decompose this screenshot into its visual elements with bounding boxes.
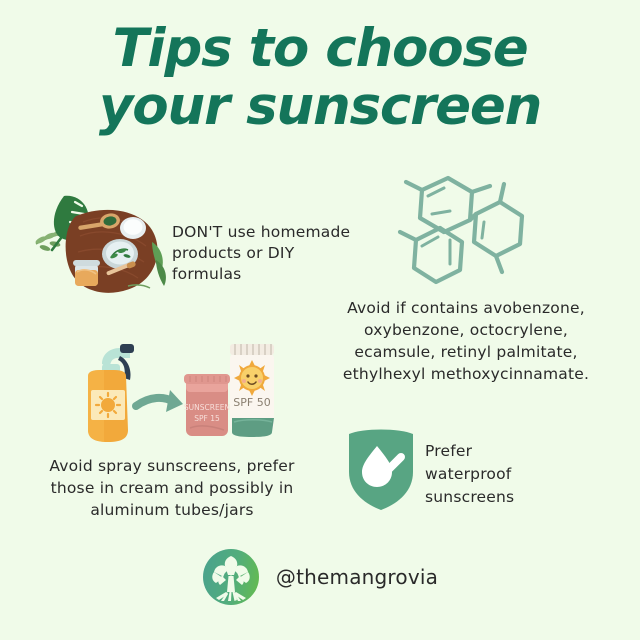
sun-label bbox=[91, 390, 125, 420]
infographic-canvas: Tips to choose your sunscreen bbox=[0, 0, 640, 640]
tip-diy-line-1: DON'T use homemade bbox=[172, 222, 382, 243]
tip-diy-text: DON'T use homemade products or DIY formu… bbox=[172, 222, 382, 285]
arrow-right-icon bbox=[136, 390, 183, 412]
tip-chemicals-text: Avoid if contains avobenzone, oxybenzone… bbox=[316, 297, 616, 385]
tube-spf-label: SPF 50 bbox=[233, 396, 270, 409]
honey-jar bbox=[73, 260, 100, 286]
tip-chemicals-line-3: ecamsule, retinyl palmitate, bbox=[316, 341, 616, 363]
tip-diy-line-3: formulas bbox=[172, 264, 382, 285]
spray-bottle-illustration bbox=[58, 334, 183, 444]
page-title-line-1: Tips to choose bbox=[0, 20, 640, 78]
powder-bowl bbox=[120, 217, 146, 239]
tip-diy-line-2: products or DIY bbox=[172, 243, 382, 264]
page-title: Tips to choose your sunscreen bbox=[0, 20, 640, 136]
smiling-sun-icon bbox=[234, 360, 270, 396]
tip-chemicals-line-1: Avoid if contains avobenzone, bbox=[316, 297, 616, 319]
sunscreen-tube: SPF 50 bbox=[230, 344, 274, 437]
jar-brand-label: SUNSCREEN bbox=[184, 403, 230, 412]
diy-ingredients-board-illustration bbox=[28, 186, 173, 298]
account-handle: @themangrovia bbox=[276, 565, 438, 589]
tip-chemicals-line-2: oxybenzone, octocrylene, bbox=[316, 319, 616, 341]
cream-containers-illustration: SUNSCREEN SPF 15 bbox=[182, 330, 290, 440]
tip-spray-line-1: Avoid spray sunscreens, prefer bbox=[22, 455, 322, 477]
tip-waterproof-line-1: Prefer bbox=[425, 440, 565, 463]
tip-chemicals-line-4: ethylhexyl methoxycinnamate. bbox=[316, 363, 616, 385]
tip-spray-line-2: those in cream and possibly in bbox=[22, 477, 322, 499]
waterproof-shield-icon bbox=[345, 424, 417, 512]
page-title-line-2: your sunscreen bbox=[0, 78, 640, 136]
footer: @themangrovia bbox=[0, 548, 640, 606]
chemical-molecule-illustration bbox=[392, 168, 542, 296]
tip-waterproof-text: Prefer waterproof sunscreens bbox=[425, 440, 565, 509]
sunscreen-jar: SUNSCREEN SPF 15 bbox=[184, 374, 230, 436]
tip-spray-text: Avoid spray sunscreens, prefer those in … bbox=[22, 455, 322, 521]
mangrove-tree-logo bbox=[202, 548, 260, 606]
tip-waterproof-line-3: sunscreens bbox=[425, 486, 565, 509]
jar-spf-label: SPF 15 bbox=[194, 414, 220, 423]
tip-spray-line-3: aluminum tubes/jars bbox=[22, 499, 322, 521]
tip-waterproof-line-2: waterproof bbox=[425, 463, 565, 486]
